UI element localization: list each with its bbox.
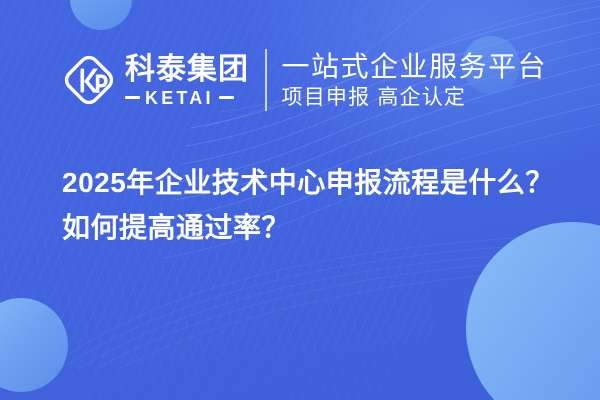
promo-banner: 科泰集团 KETAI 一站式企业服务平台 项目申报 高企认定 2025年企业技术… [0,0,600,400]
brand-text: 科泰集团 KETAI [125,54,249,107]
header-divider [265,49,267,111]
brand-rule-right [219,96,234,99]
tagline-sub: 项目申报 高企认定 [282,86,548,110]
brand-name-en: KETAI [145,89,214,107]
brand-lockup: 科泰集团 KETAI [60,51,249,109]
ketai-diamond-kp-logo-icon [60,51,118,109]
tagline-main: 一站式企业服务平台 [282,51,548,82]
brand-rule-left [125,96,140,99]
tagline-block: 一站式企业服务平台 项目申报 高企认定 [282,51,548,110]
page-title: 2025年企业技术中心申报流程是什么？如何提高通过率？ [62,160,562,250]
brand-name-en-row: KETAI [125,89,249,107]
banner-header: 科泰集团 KETAI 一站式企业服务平台 项目申报 高企认定 [0,44,600,116]
brand-name-cn: 科泰集团 [125,54,249,86]
